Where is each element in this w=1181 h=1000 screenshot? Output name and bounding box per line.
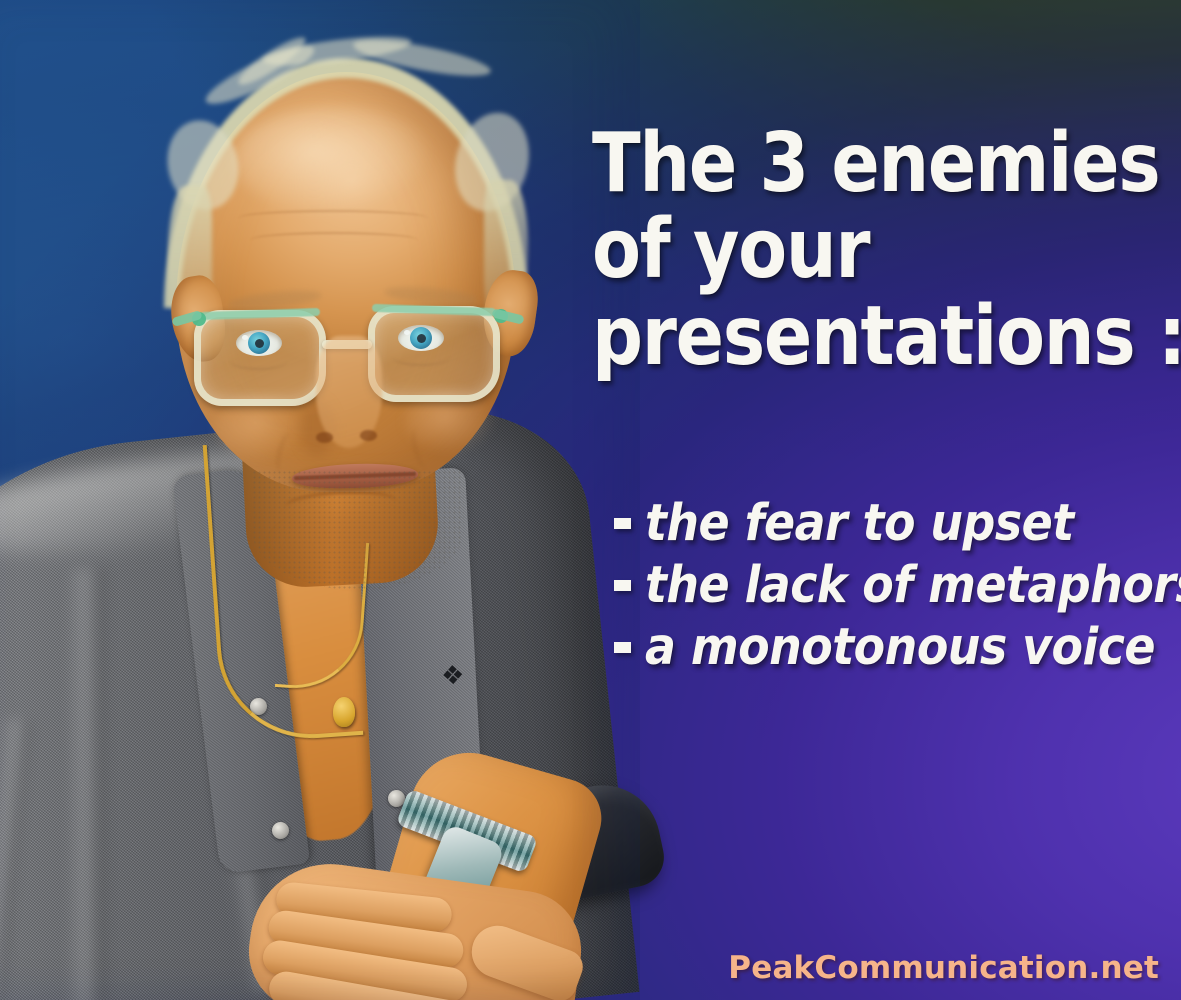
speaker-portrait: ❖ (0, 0, 640, 1000)
promo-graphic: ❖ (0, 0, 1181, 1000)
brand-url: PeakCommunication.net (728, 950, 1159, 986)
list-item: a monotonous voice (614, 622, 1174, 673)
bullet-label: a monotonous voice (645, 622, 1155, 673)
bullet-dash-icon (614, 580, 631, 591)
shirt-fold (65, 569, 105, 1000)
headline-line-3: presentations : (592, 297, 1097, 377)
list-item: the lack of metaphors (614, 560, 1174, 611)
bullet-list: the fear to upset the lack of metaphors … (614, 498, 1174, 684)
eyeglass-lens-right (368, 306, 500, 402)
list-item: the fear to upset (614, 498, 1174, 549)
nostril-left (316, 432, 333, 443)
eyeglass-lens-left (194, 310, 326, 406)
shirt-logo-icon: ❖ (439, 662, 467, 693)
stubble (252, 470, 464, 590)
shirt-button (272, 822, 289, 839)
nostril-right (360, 430, 377, 441)
bullet-dash-icon (614, 642, 631, 653)
chain-pendant (333, 697, 355, 727)
headline: The 3 enemies of your presentations : (592, 124, 1172, 377)
bullet-label: the lack of metaphors (645, 560, 1181, 611)
bullet-dash-icon (614, 518, 631, 529)
bullet-label: the fear to upset (645, 498, 1074, 549)
headline-line-2: of your (592, 210, 1097, 290)
headline-line-1: The 3 enemies (592, 124, 1097, 204)
